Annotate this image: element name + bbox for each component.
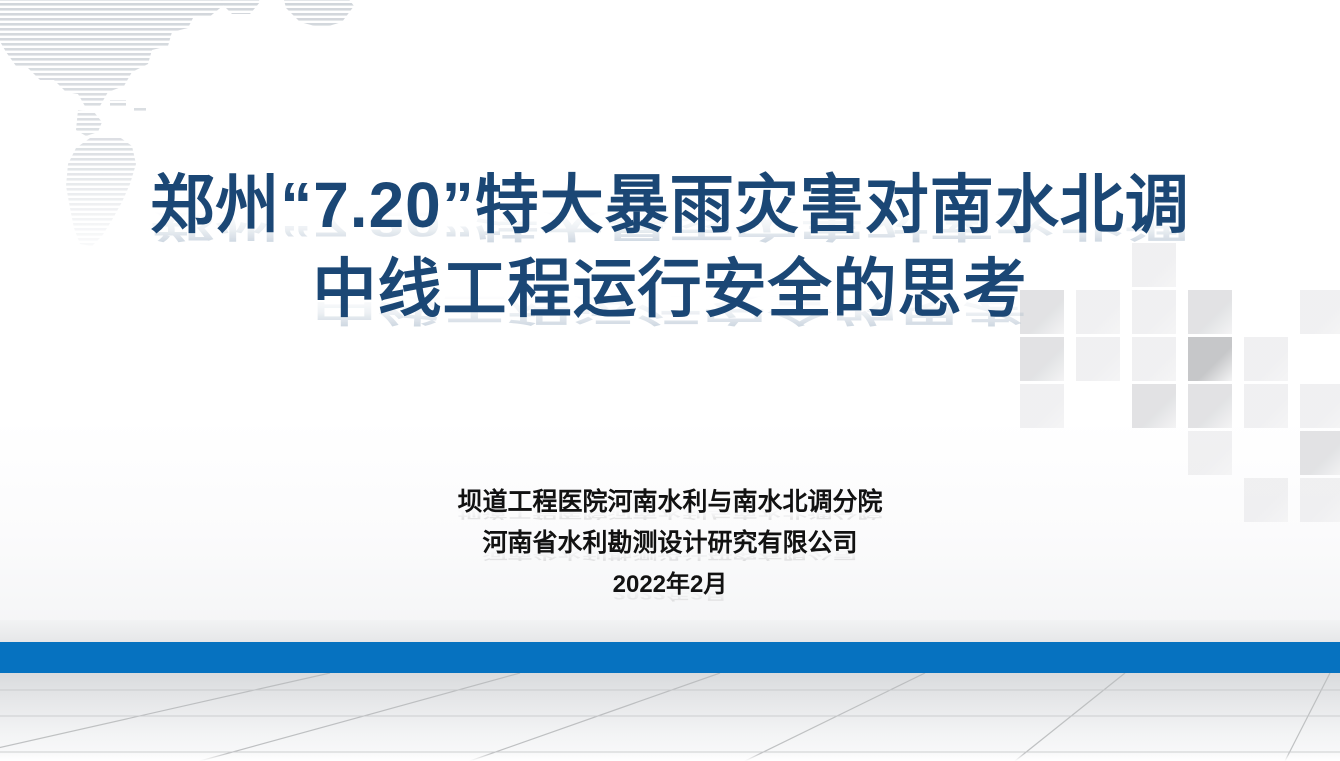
mosaic-square (1244, 384, 1288, 428)
subtitle-block: 坝道工程医院河南水利与南水北调分院 坝道工程医院河南水利与南水北调分院 河南省水… (0, 482, 1340, 605)
title-slide: 郑州“7.20”特大暴雨灾害对南水北调 郑州“7.20”特大暴雨灾害对南水北调 … (0, 0, 1340, 761)
title-line-2: 中线工程运行安全的思考 中线工程运行安全的思考 (0, 247, 1340, 331)
subtitle-date-text: 2022年2月 (613, 571, 728, 598)
title-line-1: 郑州“7.20”特大暴雨灾害对南水北调 郑州“7.20”特大暴雨灾害对南水北调 (0, 163, 1340, 247)
mosaic-square (1188, 337, 1232, 381)
blue-accent-bar (0, 642, 1340, 673)
mosaic-square (1076, 337, 1120, 381)
mosaic-square (1188, 384, 1232, 428)
subtitle-org-line-2-text: 河南省水利勘测设计研究有限公司 (482, 529, 857, 557)
mosaic-square (1188, 431, 1232, 475)
subtitle-org-line-2: 河南省水利勘测设计研究有限公司 河南省水利勘测设计研究有限公司 (0, 523, 1340, 564)
footer-shelf (0, 620, 1340, 642)
title-block: 郑州“7.20”特大暴雨灾害对南水北调 郑州“7.20”特大暴雨灾害对南水北调 … (0, 163, 1340, 331)
title-line-1-text: 郑州“7.20”特大暴雨灾害对南水北调 (150, 169, 1190, 241)
subtitle-date: 2022年2月 2022年2月 (0, 564, 1340, 605)
mosaic-square (1300, 384, 1340, 428)
subtitle-org-line-1: 坝道工程医院河南水利与南水北调分院 坝道工程医院河南水利与南水北调分院 (0, 482, 1340, 523)
subtitle-org-line-1-text: 坝道工程医院河南水利与南水北调分院 (457, 488, 882, 516)
title-line-2-text: 中线工程运行安全的思考 (313, 253, 1028, 325)
mosaic-square (1132, 337, 1176, 381)
mosaic-square (1020, 337, 1064, 381)
mosaic-square (1020, 384, 1064, 428)
perspective-grid-floor (0, 673, 1340, 761)
mosaic-square (1244, 337, 1288, 381)
mosaic-square (1132, 384, 1176, 428)
mosaic-square (1300, 431, 1340, 475)
floor-bottom-edge (0, 753, 1340, 761)
